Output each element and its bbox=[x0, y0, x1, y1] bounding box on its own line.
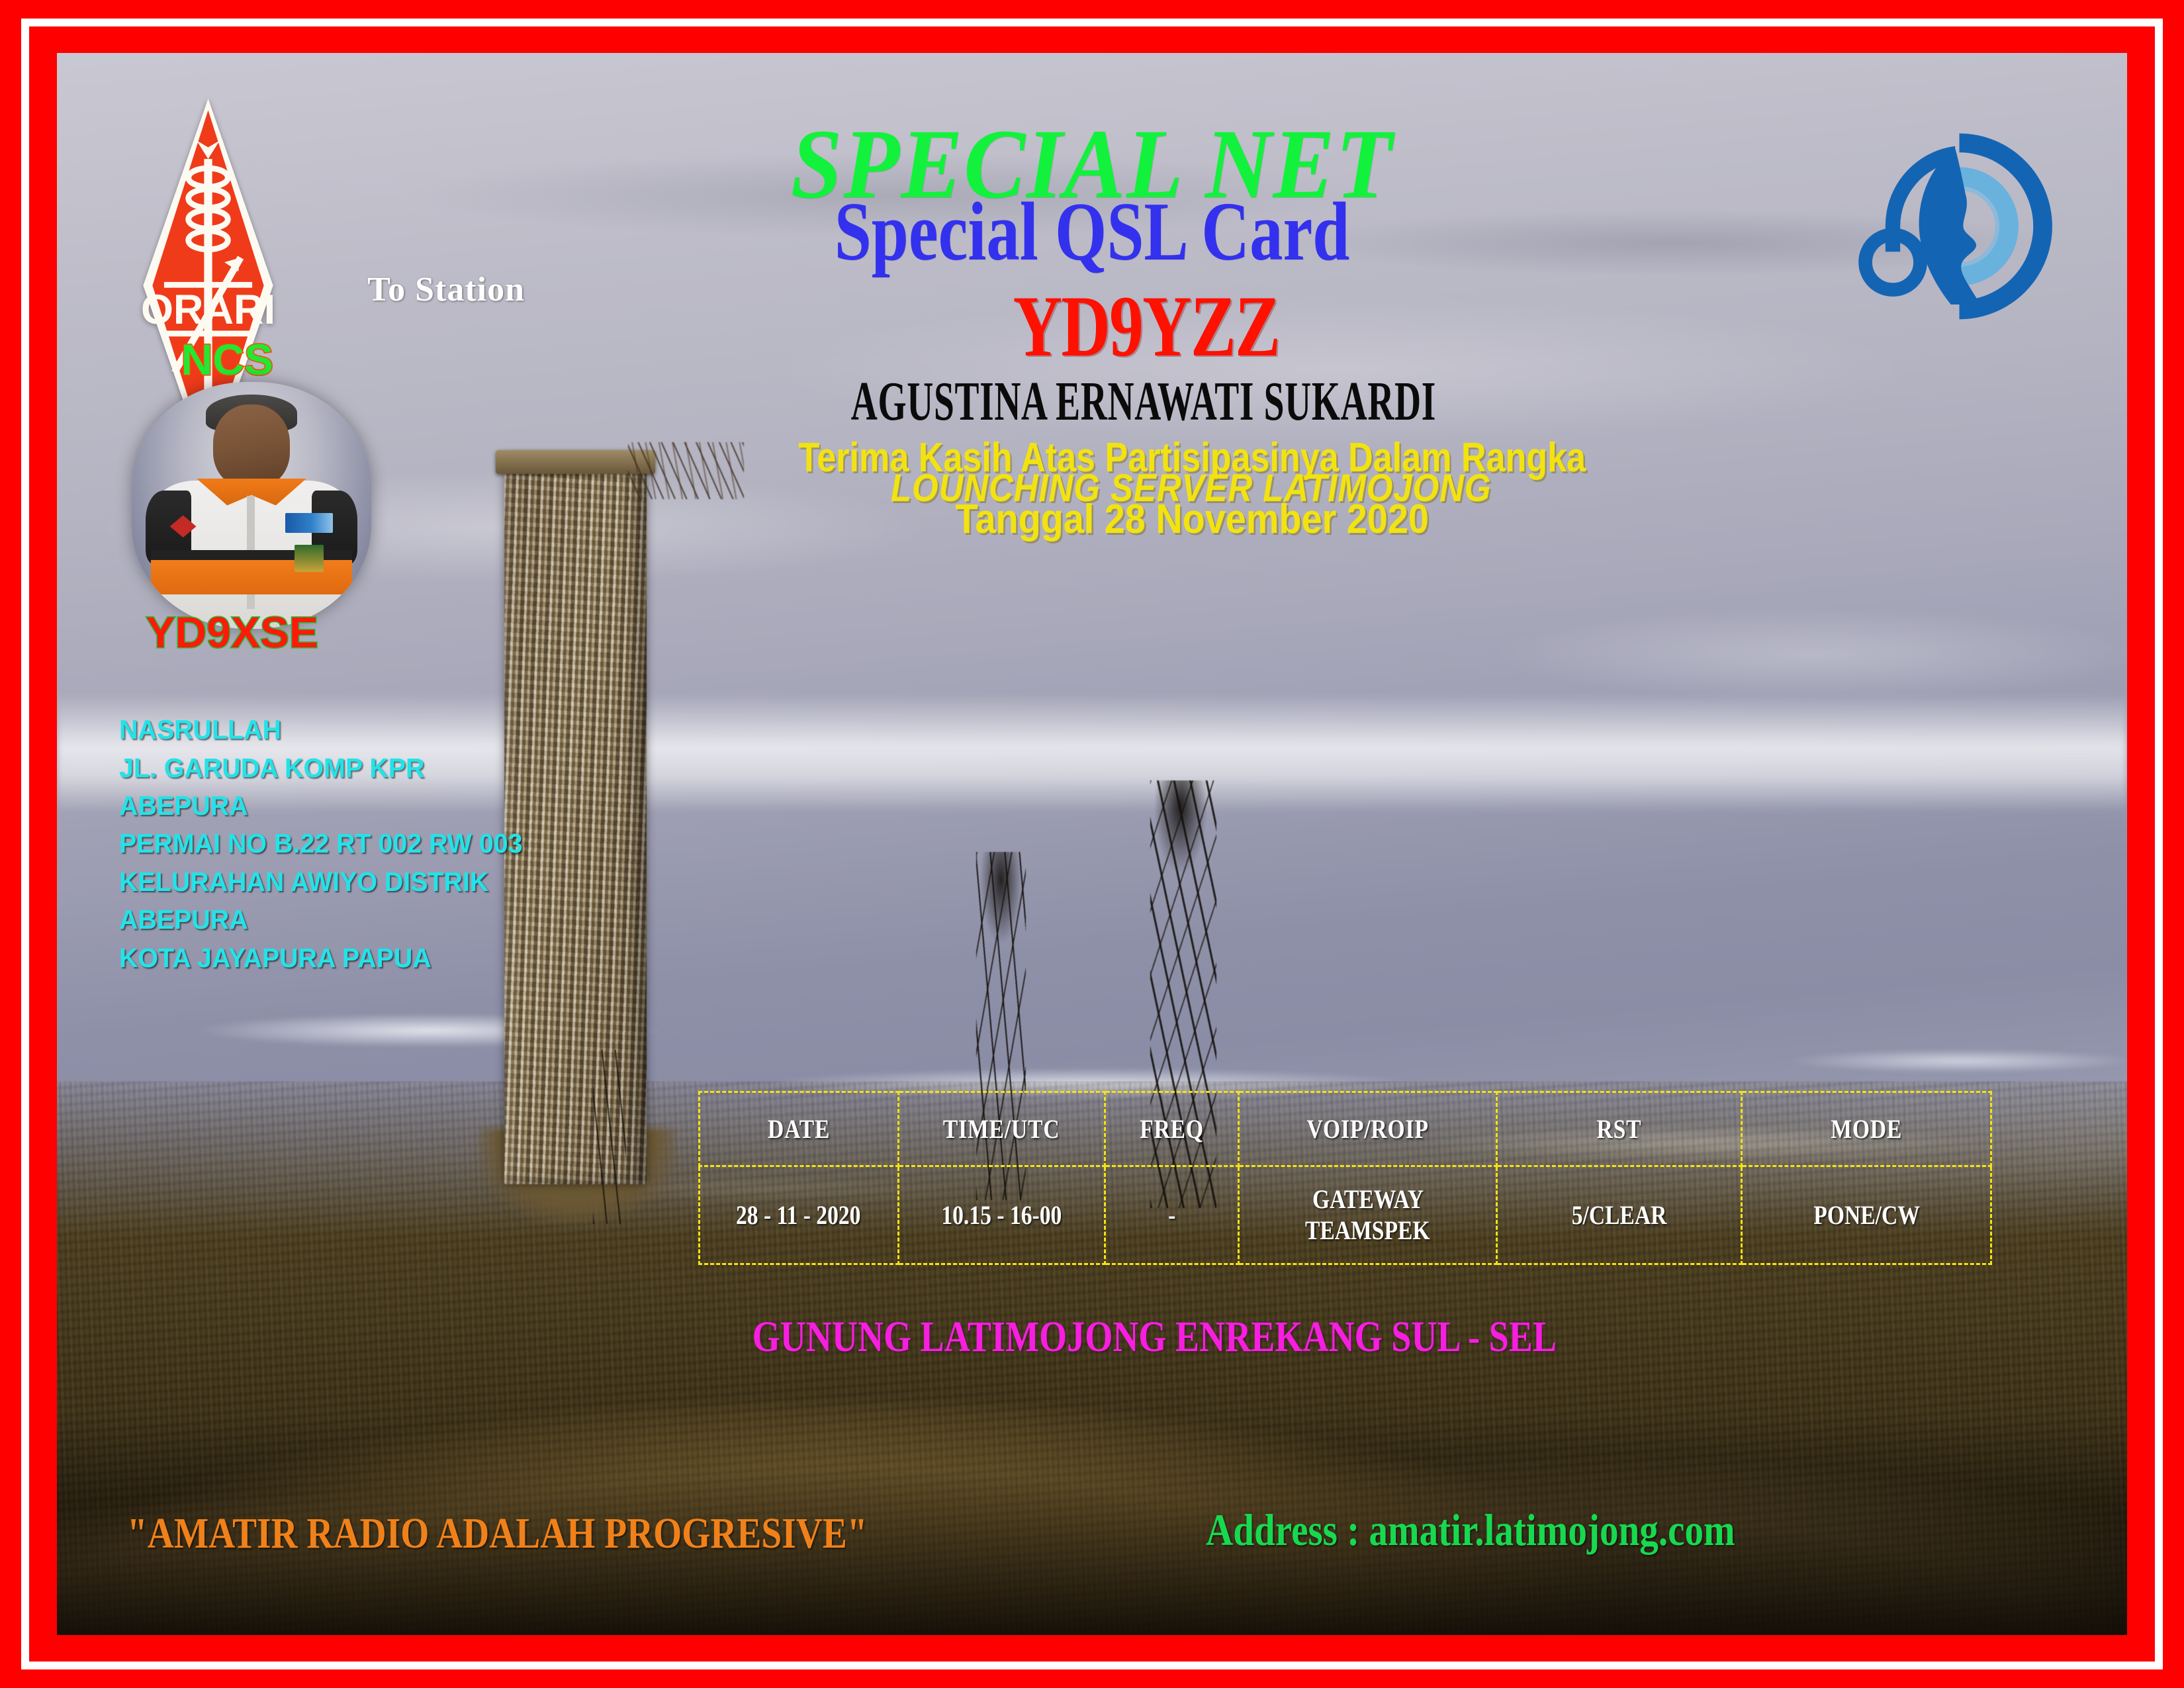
table-row: 28 - 11 - 2020 10.15 - 16-00 - GATEWAY T… bbox=[699, 1166, 1991, 1264]
address-line: KOTA JAYAPURA PAPUA bbox=[119, 939, 523, 977]
recipient-name: AGUSTINA ERNAWATI SUKARDI bbox=[461, 374, 1827, 430]
address-line: PERMAI NO B.22 RT 002 RW 003 bbox=[119, 825, 523, 863]
motto-text: "AMATIR RADIO ADALAH PROGRESIVE" bbox=[127, 1509, 868, 1559]
cell-time: 10.15 - 16-00 bbox=[898, 1166, 1105, 1264]
orari-logo-text: ORARI bbox=[141, 287, 275, 333]
ncs-callsign: YD9XSE bbox=[146, 607, 318, 657]
station-address: NASRULLAH JL. GARUDA KOMP KPR ABEPURA PE… bbox=[119, 711, 523, 977]
table-header-rst: RST bbox=[1496, 1092, 1741, 1166]
table-header-time: TIME/UTC bbox=[898, 1092, 1105, 1166]
website-address: Address : amatir.latimojong.com bbox=[1206, 1504, 1735, 1556]
address-line: NASRULLAH bbox=[119, 711, 523, 749]
table-header-row: DATE TIME/UTC FREQ VOIP/ROIP RST MODE bbox=[699, 1092, 1991, 1166]
address-line: JL. GARUDA KOMP KPR bbox=[119, 749, 523, 787]
table-header-mode: MODE bbox=[1742, 1092, 1991, 1166]
address-line: ABEPURA bbox=[119, 787, 523, 825]
table-header-date: DATE bbox=[699, 1092, 898, 1166]
cell-rst: 5/CLEAR bbox=[1496, 1166, 1741, 1264]
event-date-line: Tanggal 28 November 2020 bbox=[261, 499, 2124, 540]
ncs-label: NCS bbox=[181, 334, 273, 385]
operator-face bbox=[213, 404, 290, 489]
location-line: GUNUNG LATIMOJONG ENREKANG SUL - SEL bbox=[306, 1312, 2003, 1362]
cell-mode: PONE/CW bbox=[1742, 1166, 1991, 1264]
page-subtitle: Special QSL Card bbox=[264, 191, 1920, 274]
background-photograph: ORARI bbox=[57, 53, 2127, 1635]
operator-id-card bbox=[295, 545, 324, 572]
card-white-frame: ORARI bbox=[21, 19, 2163, 1669]
cell-freq: - bbox=[1105, 1166, 1238, 1264]
address-line: KELURAHAN AWIYO DISTRIK bbox=[119, 863, 523, 901]
cell-date: 28 - 11 - 2020 bbox=[699, 1166, 898, 1264]
address-line: ABEPURA bbox=[119, 901, 523, 939]
operator-photo bbox=[132, 382, 372, 629]
cell-voip: GATEWAY TEAMSPEK bbox=[1239, 1166, 1497, 1264]
card-inner-red-frame: ORARI bbox=[29, 26, 2155, 1662]
operator-patch bbox=[285, 513, 334, 533]
qso-details-table: DATE TIME/UTC FREQ VOIP/ROIP RST MODE 28… bbox=[698, 1091, 1992, 1265]
recipient-callsign: YD9YZZ bbox=[339, 283, 1954, 370]
qsl-card: ORARI bbox=[0, 0, 2184, 1688]
table-header-freq: FREQ bbox=[1105, 1092, 1238, 1166]
table-header-voip: VOIP/ROIP bbox=[1239, 1092, 1497, 1166]
